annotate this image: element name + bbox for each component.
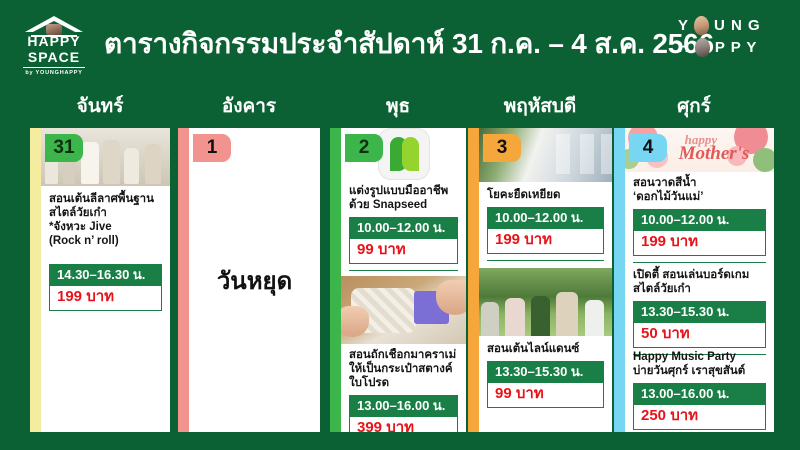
activity-divider <box>633 262 766 263</box>
activity-price: 50 บาท <box>634 323 765 347</box>
yh-row2-prefix: H <box>678 39 690 56</box>
activity-title-line: เปิดตี้ สอนเล่นบอร์ดเกม <box>625 268 774 282</box>
activity-divider <box>349 270 458 271</box>
activity-block[interactable]: เปิดตี้ สอนเล่นบอร์ดเกม สไตล์วัยเก๋า 13.… <box>625 268 774 355</box>
date-badge-tuesday: 1 <box>193 134 231 162</box>
activity-title-line: ‘ดอกไม้วันแม่’ <box>625 190 774 204</box>
activity-block[interactable]: สอนเต้นลีลาศพื้นฐาน สไตล์วัยเก๋า *จังหวะ… <box>41 192 170 311</box>
activity-time: 14.30–16.30 น. <box>50 265 161 286</box>
time-price-badge: 13.00–16.00 น. 250 บาท <box>633 383 766 430</box>
day-stripe-monday <box>30 128 41 432</box>
day-card-wednesday[interactable]: 2 แต่งรูปแบบมืออาชีพ ด้วย Snapseed 10.00… <box>330 128 466 432</box>
young-happy-row-2: H P P Y <box>678 36 782 58</box>
date-badge-monday: 31 <box>45 134 83 162</box>
time-price-badge: 13.30–15.30 น. 50 บาท <box>633 301 766 348</box>
activity-divider <box>487 260 604 261</box>
activity-time: 13.00–16.00 น. <box>350 396 457 417</box>
activity-price: 199 บาท <box>488 229 603 253</box>
day-header-thursday: พฤหัสบดี <box>468 94 612 120</box>
activity-block[interactable]: แต่งรูปแบบมืออาชีพ ด้วย Snapseed 10.00–1… <box>341 184 466 271</box>
activity-title-line: สไตล์วัยเก๋า <box>625 282 774 296</box>
day-header-tuesday: อังคาร <box>178 94 320 120</box>
page-title: ตารางกิจกรรมประจำสัปดาห์ 31 ก.ค. – 4 ส.ค… <box>104 20 664 68</box>
activity-time: 10.00–12.00 น. <box>350 218 457 239</box>
activity-price: 250 บาท <box>634 405 765 429</box>
logo-divider <box>23 67 85 68</box>
elder-face-icon-2 <box>695 38 710 57</box>
young-happy-logo: Y U N G H P P Y <box>678 14 782 64</box>
day-stripe-wednesday <box>330 128 341 432</box>
activity-title-line: สไตล์วัยเก๋า <box>41 206 170 220</box>
logo-subtitle: by YOUNGHAPPY <box>25 70 82 76</box>
elder-face-icon <box>694 16 709 35</box>
activity-title-line: *จังหวะ Jive <box>41 220 170 234</box>
yh-row1-suffix: U N G <box>714 17 761 34</box>
leaf-icon <box>378 128 430 180</box>
banner-text-mothers: Mother's <box>679 143 750 165</box>
activity-title-line: โยคะยืดเหยียด <box>479 188 612 202</box>
activity-title-line: สอนเต้นไลน์แดนซ์ <box>479 342 612 356</box>
activity-title-line: ให้เป็นกระเป๋าสตางค์ใบโปรด <box>341 362 466 390</box>
happy-space-logo: HAPPY SPACE by YOUNGHAPPY <box>16 14 92 76</box>
activity-title-line: สอนเต้นลีลาศพื้นฐาน <box>41 192 170 206</box>
activity-time: 10.00–12.00 น. <box>634 210 765 231</box>
activity-price: 399 บาท <box>350 417 457 432</box>
day-stripe-friday <box>614 128 625 432</box>
logo-line-2: SPACE <box>28 50 80 65</box>
activity-title-line: สอนถักเชือกมาคราเม่ <box>341 348 466 362</box>
activity-block[interactable]: สอนเต้นไลน์แดนซ์ 13.30–15.30 น. 99 บาท <box>479 342 612 408</box>
day-card-thursday[interactable]: 3 โยคะยืดเหยียด 10.00–12.00 น. 199 บาท ส… <box>468 128 612 432</box>
activity-block[interactable]: สอนถักเชือกมาคราเม่ ให้เป็นกระเป๋าสตางค์… <box>341 348 466 432</box>
day-header-wednesday: พุธ <box>330 94 466 120</box>
day-card-tuesday[interactable]: 1 วันหยุด <box>178 128 320 432</box>
yh-row2-suffix: P P Y <box>715 39 758 56</box>
activity-title-line: ด้วย Snapseed <box>341 198 466 212</box>
activity-time: 13.00–16.00 น. <box>634 384 765 405</box>
activity-time: 10.00–12.00 น. <box>488 208 603 229</box>
yh-row1-prefix: Y <box>678 17 689 34</box>
activity-title-line: (Rock n’ roll) <box>41 234 170 248</box>
time-price-badge: 10.00–12.00 น. 199 บาท <box>487 207 604 254</box>
activity-title-line: แต่งรูปแบบมืออาชีพ <box>341 184 466 198</box>
activity-title-line: บ่ายวันศุกร์ เราสุขสันต์ <box>625 364 774 378</box>
holiday-label: วันหยุด <box>189 128 320 432</box>
time-price-badge: 14.30–16.30 น. 199 บาท <box>49 264 162 311</box>
date-badge-friday: 4 <box>629 134 667 162</box>
time-price-badge: 10.00–12.00 น. 99 บาท <box>349 217 458 264</box>
time-price-badge: 13.30–15.30 น. 99 บาท <box>487 361 604 408</box>
day-card-monday[interactable]: 31 สอนเต้นลีลาศพื้นฐาน สไตล์วัยเก๋า *จัง… <box>30 128 170 432</box>
activity-price: 99 บาท <box>488 383 603 407</box>
time-price-badge: 10.00–12.00 น. 199 บาท <box>633 209 766 256</box>
day-stripe-tuesday <box>178 128 189 432</box>
activity-price: 99 บาท <box>350 239 457 263</box>
time-price-badge: 13.00–16.00 น. 399 บาท <box>349 395 458 432</box>
day-header-monday: จันทร์ <box>30 94 170 120</box>
macrame-photo <box>341 276 466 344</box>
activity-block[interactable]: Happy Music Party บ่ายวันศุกร์ เราสุขสัน… <box>625 350 774 430</box>
activity-time: 13.30–15.30 น. <box>634 302 765 323</box>
weekday-header-row: จันทร์ อังคาร พุธ พฤหัสบดี ศุกร์ <box>0 94 800 122</box>
page-header: HAPPY SPACE by YOUNGHAPPY ตารางกิจกรรมปร… <box>0 0 800 88</box>
activity-block[interactable]: โยคะยืดเหยียด 10.00–12.00 น. 199 บาท <box>479 188 612 261</box>
day-header-friday: ศุกร์ <box>614 94 774 120</box>
date-badge-thursday: 3 <box>483 134 521 162</box>
activity-price: 199 บาท <box>50 286 161 310</box>
activity-price: 199 บาท <box>634 231 765 255</box>
day-card-friday[interactable]: happy Mother's 4 สอนวาดสีน้ำ ‘ดอกไม้วันแ… <box>614 128 774 432</box>
line-dance-photo <box>479 268 612 336</box>
young-happy-row-1: Y U N G <box>678 14 782 36</box>
activity-block[interactable]: สอนวาดสีน้ำ ‘ดอกไม้วันแม่’ 10.00–12.00 น… <box>625 176 774 263</box>
day-stripe-thursday <box>468 128 479 432</box>
activity-time: 13.30–15.30 น. <box>488 362 603 383</box>
activity-title-line: สอนวาดสีน้ำ <box>625 176 774 190</box>
date-badge-wednesday: 2 <box>345 134 383 162</box>
activity-title-line: Happy Music Party <box>625 350 774 364</box>
house-icon <box>25 14 83 33</box>
